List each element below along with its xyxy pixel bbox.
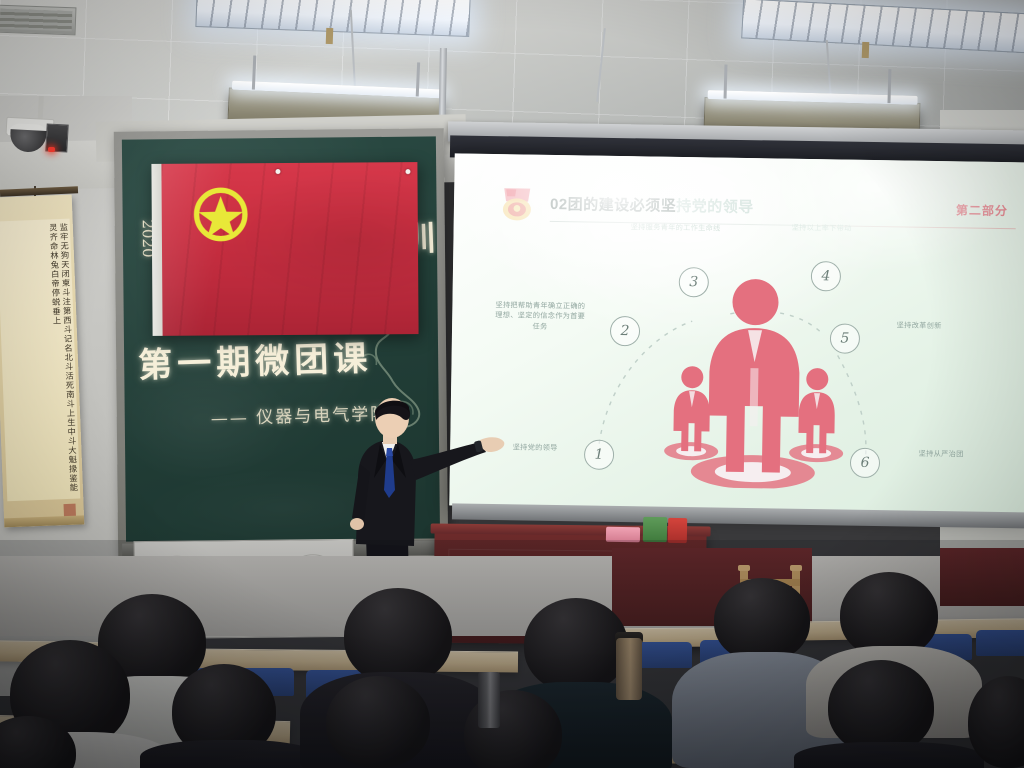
youth-league-flag (151, 162, 418, 336)
water-bottle[interactable] (478, 672, 500, 728)
node-number: 3 (689, 274, 698, 290)
presentation-slide: 02团的建设必须坚持党的领导 第二部分 (449, 153, 1024, 514)
student-head (524, 598, 628, 692)
student-head (714, 578, 810, 662)
thermos-bottle[interactable] (616, 638, 642, 700)
blackboard-line-3: 第一期微团课 (137, 331, 372, 387)
student-body (794, 742, 984, 768)
node-number: 1 (594, 447, 603, 463)
ceiling-vent (0, 5, 76, 36)
student-head (326, 676, 430, 768)
node-number: 4 (821, 268, 830, 284)
chair-back-f (976, 630, 1024, 656)
node-number: 6 (860, 455, 869, 471)
student-head (344, 588, 452, 684)
status-led-indicator (48, 147, 55, 152)
people-group-illustration (658, 275, 851, 490)
red-box-item[interactable] (668, 518, 687, 543)
projection-screen: 02团的建设必须坚持党的领导 第二部分 (449, 153, 1024, 514)
youth-league-badge-icon (498, 184, 537, 225)
slide-title-faded: 持党的领导 (676, 198, 754, 216)
star-in-circle-icon (192, 185, 250, 243)
classroom-photo: 监牢无狗天闭柬斗注第西斗记名北斗活死南斗上生中斗大魁掾鉴能灵齐命林兔白帝停蜕垂上… (0, 0, 1024, 768)
light-stem-right (862, 42, 870, 58)
diagram-label-3: 坚持服务青年的工作生命线 (610, 222, 742, 235)
flag-grommet (275, 169, 280, 174)
node-number: 5 (840, 331, 849, 347)
maroon-wall-panel-right (940, 548, 1024, 606)
student-body (140, 740, 320, 768)
green-box-item[interactable] (643, 517, 667, 542)
node-number: 2 (620, 323, 629, 339)
pink-box-item[interactable] (606, 527, 640, 543)
diagram-label-6: 坚持从严治团 (886, 448, 996, 460)
slide-title-visible: 02团的建设必须坚 (550, 196, 676, 215)
scroll-calligraphy-text: 监牢无狗天闭柬斗注第西斗记名北斗活死南斗上生中斗大魁掾鉴能灵齐命林兔白帝停蜕垂上 (0, 223, 79, 498)
student-head (828, 660, 934, 754)
slide-section-label: 第二部分 (956, 201, 1008, 219)
diagram-label-5: 坚持改革创新 (864, 320, 974, 332)
calligraphy-scroll: 监牢无狗天闭柬斗注第西斗记名北斗活死南斗上生中斗大魁掾鉴能灵齐命林兔白帝停蜕垂上 (0, 195, 84, 528)
slide-title: 02团的建设必须坚持党的领导 (550, 193, 754, 217)
slide-diagram: 1 2 3 4 5 6 坚持党的领导 坚持把帮助青年确立正确的 理想、坚定的信念… (449, 225, 1024, 514)
flag-grommet (405, 169, 410, 174)
light-stem-left (326, 28, 334, 44)
diagram-label-2: 坚持把帮助青年确立正确的 理想、坚定的信念作为首要 任务 (472, 300, 608, 333)
diagram-label-4: 坚持以上率下带动 (766, 222, 878, 234)
